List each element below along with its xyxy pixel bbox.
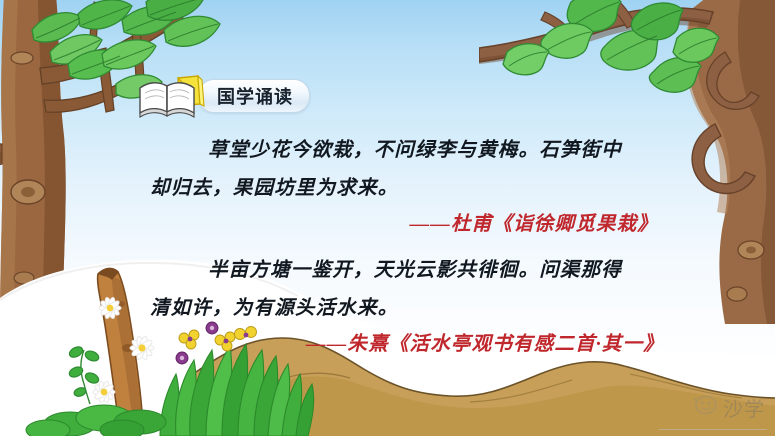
log bbox=[98, 268, 142, 418]
poem-line: 却归去，果园坊里为求来。 bbox=[150, 170, 670, 208]
poem-line: 半亩方塘一鉴开，天光云影共徘徊。问渠那得 bbox=[150, 252, 670, 290]
poem-attribution: ——杜甫《诣徐卿觅果栽》 bbox=[150, 208, 670, 242]
watermark: 沙学 bbox=[694, 393, 765, 422]
poem-content: 草堂少花今欲栽，不问绿李与黄梅。石笋街中 却归去，果园坊里为求来。 ——杜甫《诣… bbox=[150, 132, 670, 366]
sprig bbox=[68, 345, 101, 404]
watermark-label: 沙学 bbox=[723, 393, 765, 422]
slide-canvas: 国学诵读 草堂少花今欲栽，不问绿李与黄梅。石笋街中 却归去，果园坊里为求来。 —… bbox=[0, 0, 775, 436]
smiley-face-icon bbox=[694, 394, 718, 421]
poem-attribution: ——朱熹《活水亭观书有感二首·其一》 bbox=[150, 328, 670, 362]
grass-bush bbox=[26, 405, 166, 436]
heading-badge: 国学诵读 bbox=[138, 74, 310, 118]
page-title: 国学诵读 bbox=[217, 83, 293, 109]
poem-line: 清如许，为有源头活水来。 bbox=[150, 290, 670, 328]
open-book-icon bbox=[138, 74, 206, 118]
poem-two: 半亩方塘一鉴开，天光云影共徘徊。问渠那得 清如许，为有源头活水来。 ——朱熹《活… bbox=[150, 252, 670, 362]
poem-line: 草堂少花今欲栽，不问绿李与黄梅。石笋街中 bbox=[150, 132, 670, 170]
watermark-rule bbox=[659, 429, 767, 430]
daisy-group bbox=[93, 296, 154, 403]
poem-one: 草堂少花今欲栽，不问绿李与黄梅。石笋街中 却归去，果园坊里为求来。 ——杜甫《诣… bbox=[150, 132, 670, 242]
heading-pill: 国学诵读 bbox=[198, 79, 310, 113]
